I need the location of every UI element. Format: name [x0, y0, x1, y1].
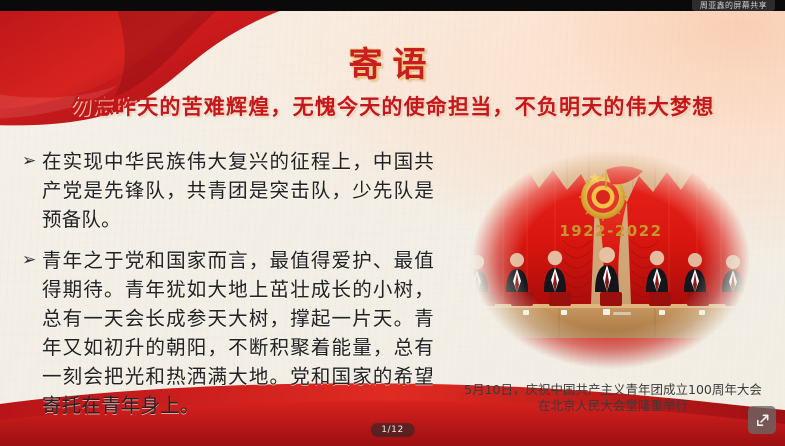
expand-diagonal-icon[interactable] — [748, 406, 776, 434]
bullet-arrow-icon: ➢ — [22, 147, 42, 176]
bullet-text: 在实现中华民族伟大复兴的征程上，中国共产党是先锋队，共青团是突击队，少先队是预备… — [42, 147, 434, 234]
top-right-glow-decoration — [485, 11, 785, 161]
expand-arrow-glyph — [755, 413, 770, 428]
page-indicator: 1/12 — [370, 423, 415, 437]
list-item: ➢ 在实现中华民族伟大复兴的征程上，中国共产党是先锋队，共青团是突击队，少先队是… — [22, 147, 434, 234]
conference-photo: 1922-2022 — [463, 144, 759, 376]
list-item: ➢ 青年之于党和国家而言，最值得爱护、最值得期待。青年犹如大地上茁壮成长的小树，… — [22, 246, 434, 420]
presenter-label: 周亚鑫的屏幕共享 — [692, 0, 775, 11]
conference-photo-image: 1922-2022 — [463, 144, 759, 376]
slide-body-text: ➢ 在实现中华民族伟大复兴的征程上，中国共产党是先锋队，共青团是突击队，少先队是… — [22, 147, 434, 432]
slide-subtitle: 勿忘昨天的苦难辉煌，无愧今天的使命担当，不负明天的伟大梦想 — [0, 91, 785, 121]
bullet-arrow-icon: ➢ — [22, 246, 42, 275]
photo-caption: 5月10日，庆祝中国共产主义青年团成立100周年大会在北京人民大会堂隆重举行 — [463, 382, 763, 414]
slide-canvas: 寄语 勿忘昨天的苦难辉煌，无愧今天的使命担当，不负明天的伟大梦想 ➢ 在实现中华… — [0, 11, 785, 446]
screen-share-topbar: 周亚鑫的屏幕共享 — [0, 0, 785, 11]
slide-title: 寄语 — [0, 37, 785, 86]
screen-share-viewer: 周亚鑫的屏幕共享 — [0, 0, 785, 446]
svg-text:1922-2022: 1922-2022 — [559, 222, 662, 240]
bullet-text: 青年之于党和国家而言，最值得爱护、最值得期待。青年犹如大地上茁壮成长的小树，总有… — [42, 246, 434, 420]
